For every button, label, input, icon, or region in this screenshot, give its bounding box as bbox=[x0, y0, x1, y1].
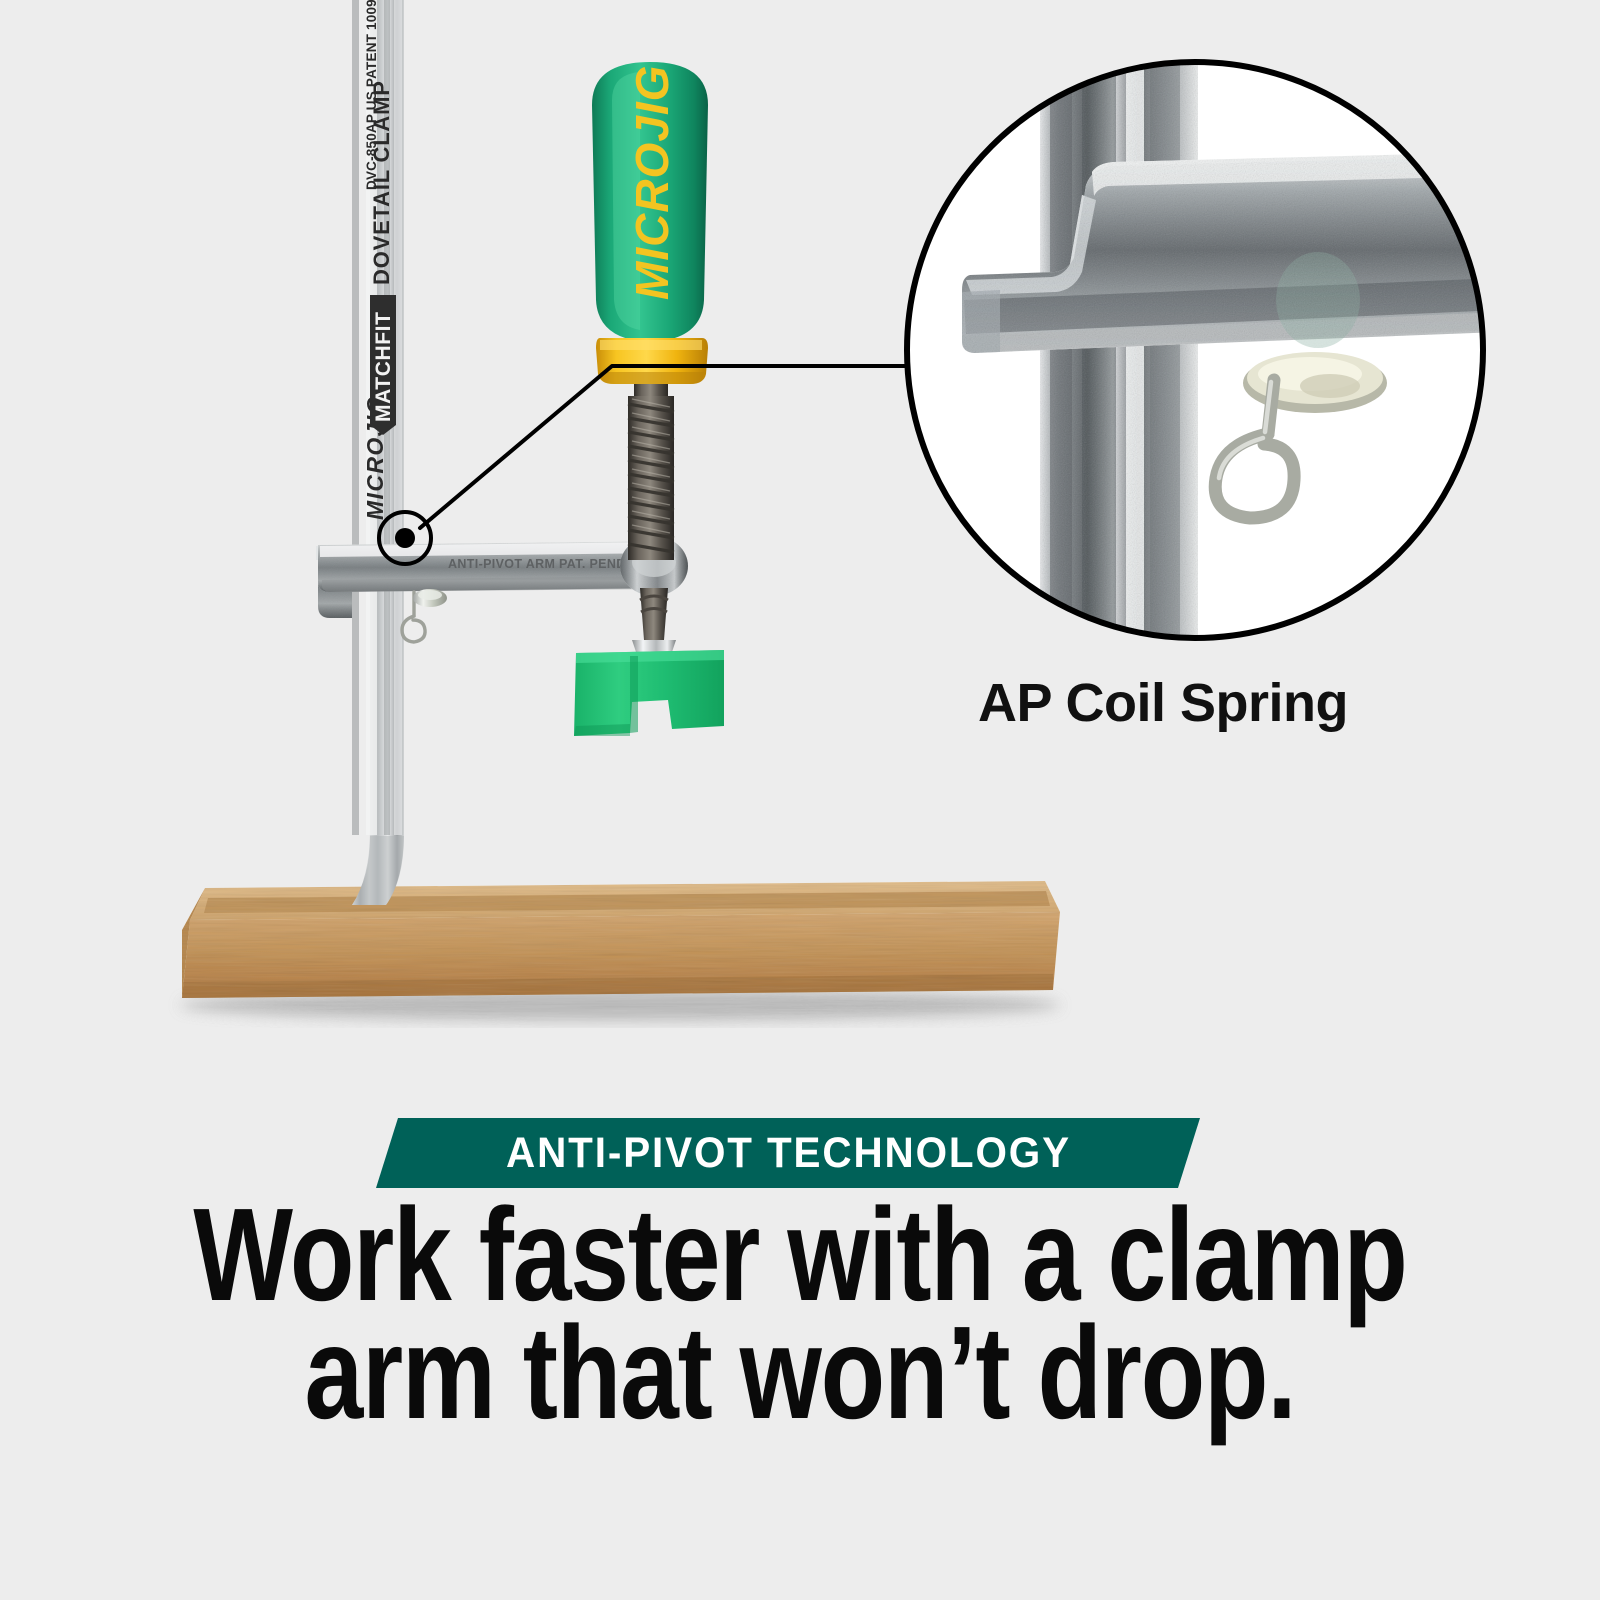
clamp-bar: MICROJIG MATCHFIT DOVETAIL CLAMP DVC-850… bbox=[346, 0, 404, 905]
callout-hotspot-dot bbox=[395, 528, 415, 548]
ap-coil-spring-label: AP Coil Spring bbox=[978, 676, 1348, 730]
arm-engraving-text: ANTI-PIVOT ARM PAT. PENDING bbox=[448, 557, 649, 571]
magnified-washer bbox=[1243, 352, 1387, 413]
svg-text:MATCHFIT: MATCHFIT bbox=[372, 311, 395, 422]
headline-line-1: Work faster with a clamp bbox=[160, 1196, 1440, 1314]
svg-text:DVC-850AP US PATENT 10099398 o: DVC-850AP US PATENT 10099398 othe bbox=[364, 0, 379, 190]
banner-label: ANTI-PIVOT TECHNOLOGY bbox=[506, 1132, 1071, 1175]
anti-pivot-technology-banner: ANTI-PIVOT TECHNOLOGY bbox=[376, 1118, 1200, 1188]
headline-line-2: arm that won’t drop. bbox=[160, 1314, 1440, 1432]
product-photo: MICROJIG MATCHFIT DOVETAIL CLAMP DVC-850… bbox=[0, 0, 1600, 1080]
handle-logo-text: MICROJIG bbox=[626, 65, 678, 300]
wood-workpiece bbox=[180, 881, 1060, 1021]
marketing-hero-image: MICROJIG MATCHFIT DOVETAIL CLAMP DVC-850… bbox=[0, 0, 1600, 1600]
headline: Work faster with a clamp arm that won’t … bbox=[0, 1196, 1600, 1432]
